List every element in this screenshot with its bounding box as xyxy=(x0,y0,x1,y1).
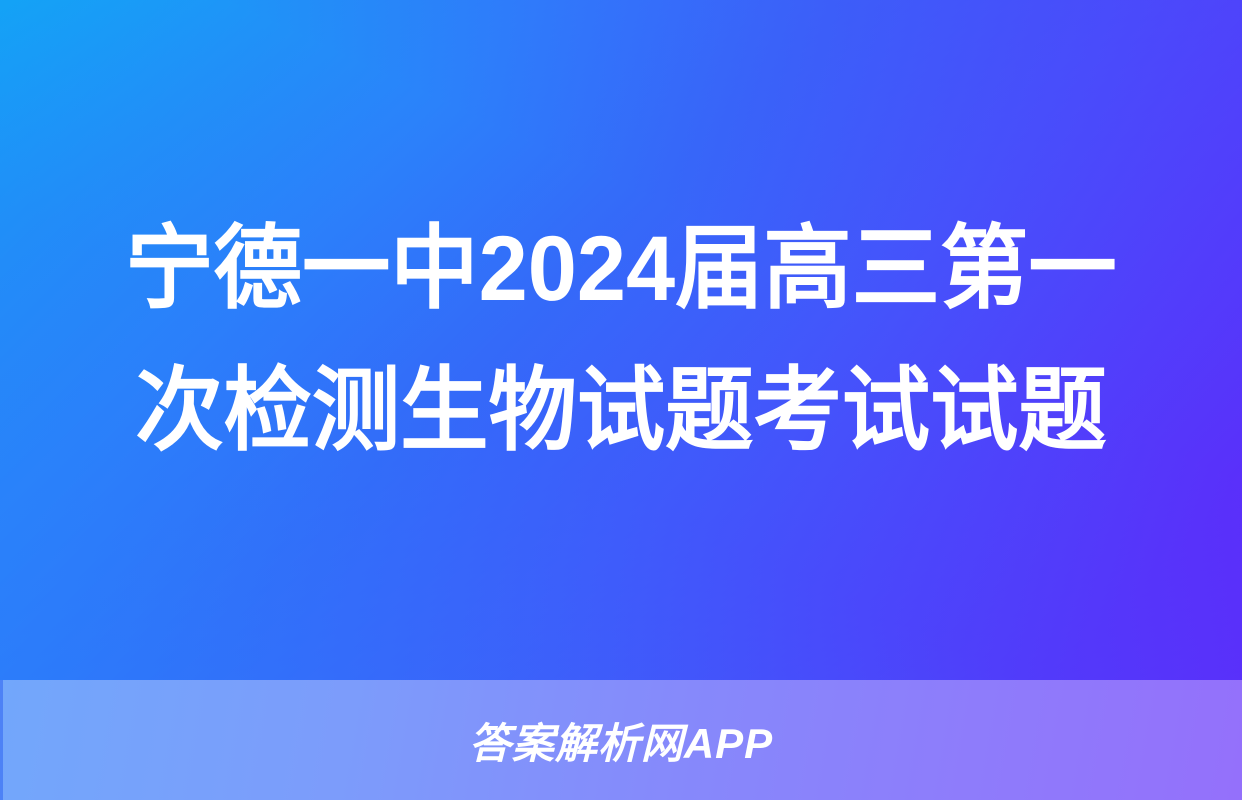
exam-paper-poster: 宁德一中2024届高三第一次检测生物试题考试试题 答案解析网APP xyxy=(0,0,1242,800)
app-watermark: 答案解析网APP xyxy=(0,680,1242,800)
page-title: 宁德一中2024届高三第一次检测生物试题考试试题 xyxy=(89,198,1153,482)
page-title-text: 宁德一中2024届高三第一次检测生物试题考试试题 xyxy=(110,198,1131,482)
hero-banner: 宁德一中2024届高三第一次检测生物试题考试试题 xyxy=(0,0,1242,680)
watermark-bar: 答案解析网APP xyxy=(0,680,1242,800)
